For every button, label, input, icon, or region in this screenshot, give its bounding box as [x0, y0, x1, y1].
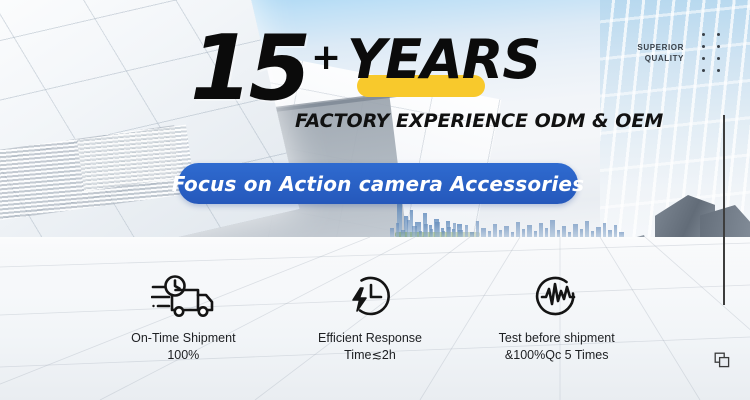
headline-group: 15 + YEARS FACTORY EXPERIENCE ODM & OEM: [190, 28, 590, 108]
superior-quality-badge: SUPERIOR QUALITY: [637, 42, 684, 64]
feature-label: Test before shipment &100%Qc 5 Times: [499, 330, 615, 364]
feature-label-line2: &100%Qc 5 Times: [499, 347, 615, 364]
feature-label: Efficient Response Time≲2h: [318, 330, 422, 364]
feature-label-line1: Test before shipment: [499, 330, 615, 347]
feature-label-line1: On-Time Shipment: [131, 330, 235, 347]
plus-sign: +: [311, 40, 341, 76]
promo-banner: SUPERIOR QUALITY 15 + YEARS FACTORY EXPE…: [0, 0, 750, 400]
feature-label-line2: 100%: [131, 347, 235, 364]
delivery-truck-clock-icon: [151, 272, 215, 322]
badge-line-1: SUPERIOR: [637, 42, 684, 53]
waveform-circle-icon: [534, 272, 580, 322]
feature-list: On-Time Shipment 100% Efficient Response…: [90, 272, 650, 372]
copy-squares-icon[interactable]: [714, 352, 730, 368]
focus-pill-label: Focus on Action camera Accessories: [172, 172, 585, 196]
clock-lightning-icon: [347, 272, 393, 322]
focus-pill-banner[interactable]: Focus on Action camera Accessories: [178, 163, 578, 204]
distant-skyline: [390, 213, 650, 237]
feature-item: Efficient Response Time≲2h: [277, 272, 464, 372]
feature-label-line2: Time≲2h: [318, 347, 422, 364]
feature-label-line1: Efficient Response: [318, 330, 422, 347]
feature-label: On-Time Shipment 100%: [131, 330, 235, 364]
feature-item: On-Time Shipment 100%: [90, 272, 277, 372]
vertical-divider-rule: [723, 115, 725, 305]
headline-subline: FACTORY EXPERIENCE ODM & OEM: [295, 110, 663, 132]
years-word: YEARS: [347, 30, 540, 90]
dot-grid-decoration: [696, 28, 726, 76]
years-number: 15: [190, 26, 307, 112]
badge-line-2: QUALITY: [637, 53, 684, 64]
feature-item: Test before shipment &100%Qc 5 Times: [463, 272, 650, 372]
